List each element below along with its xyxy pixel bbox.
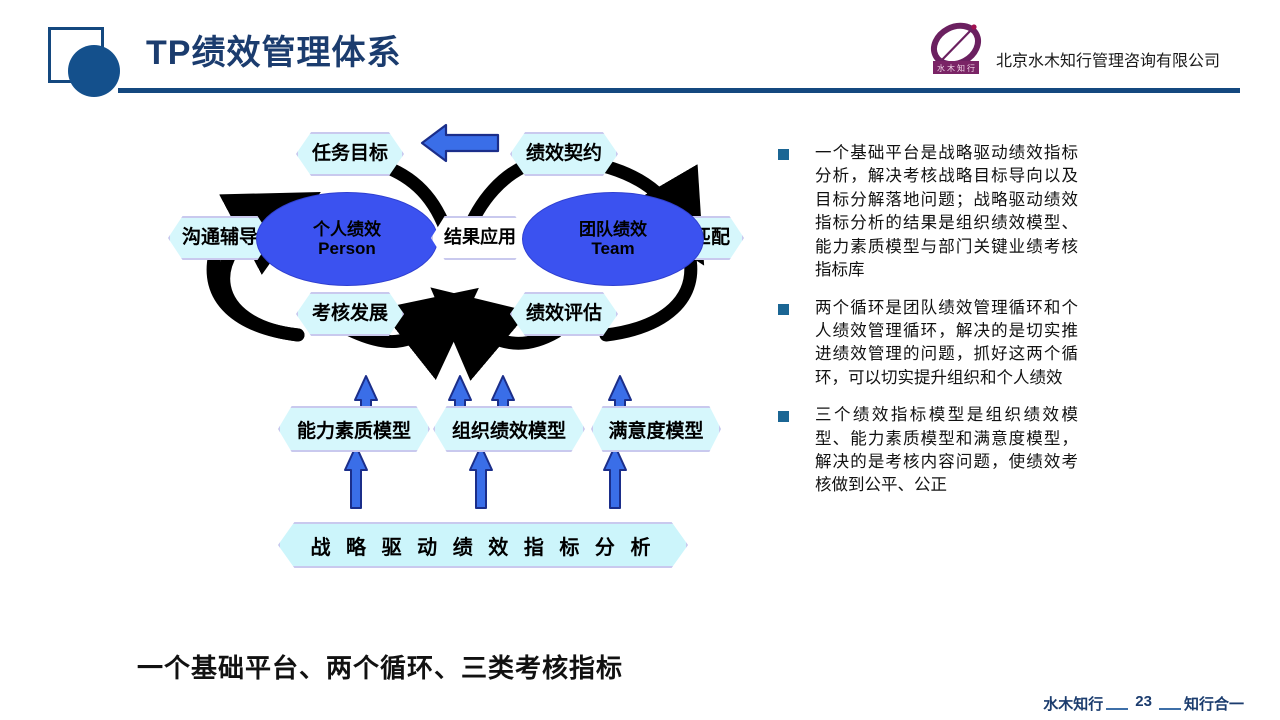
performance-cycle-diagram: 任务目标 沟通辅导 考核发展 个人绩效 Person 结果应用 绩效契约 资源匹…: [150, 110, 770, 580]
node-task-goal[interactable]: 任务目标: [296, 132, 404, 176]
footer-dash-left: [1106, 708, 1128, 710]
slide-footer: 水木知行 23 知行合一: [1043, 693, 1244, 714]
ellipse-person-en: Person: [318, 239, 376, 258]
slide-caption: 一个基础平台、两个循环、三类考核指标: [0, 648, 760, 685]
footer-dash-right: [1159, 708, 1181, 710]
footer-left-text: 水木知行: [1043, 693, 1103, 714]
company-logo-icon: 水 木 知 行: [921, 20, 991, 78]
diagram-arrows: [150, 110, 770, 580]
blue-left-arrow: [422, 125, 498, 161]
bullet-square-icon: [778, 149, 789, 160]
bullet-list: 一个基础平台是战略驱动绩效指标分析，解决考核战略目标导向以及目标分解落地问题；战…: [778, 142, 1078, 512]
bullet-item: 两个循环是团队绩效管理循环和个人绩效管理循环，解决的是切实推进绩效管理的问题，抓…: [778, 297, 1078, 391]
bullet-text: 三个绩效指标模型是组织绩效模型、能力素质模型和满意度模型，解决的是考核内容问题，…: [815, 404, 1078, 498]
ellipse-team-performance[interactable]: 团队绩效 Team: [522, 192, 704, 286]
bullet-item: 一个基础平台是战略驱动绩效指标分析，解决考核战略目标导向以及目标分解落地问题；战…: [778, 142, 1078, 283]
svg-text:水 木 知 行: 水 木 知 行: [937, 63, 975, 73]
bullet-text: 一个基础平台是战略驱动绩效指标分析，解决考核战略目标导向以及目标分解落地问题；战…: [815, 142, 1078, 283]
foundation-bar[interactable]: 战 略 驱 动 绩 效 指 标 分 析: [278, 522, 688, 568]
node-assessment-development[interactable]: 考核发展: [296, 292, 404, 336]
bullet-item: 三个绩效指标模型是组织绩效模型、能力素质模型和满意度模型，解决的是考核内容问题，…: [778, 404, 1078, 498]
model-box-org-performance[interactable]: 组织绩效模型: [433, 406, 585, 452]
page-number: 23: [1135, 693, 1152, 710]
header-divider: [118, 88, 1240, 93]
ellipse-person-performance[interactable]: 个人绩效 Person: [256, 192, 438, 286]
ellipse-team-en: Team: [591, 239, 634, 258]
model-box-satisfaction[interactable]: 满意度模型: [591, 406, 721, 452]
bullet-square-icon: [778, 411, 789, 422]
ellipse-team-cn: 团队绩效: [579, 220, 647, 239]
slide: TP绩效管理体系 水 木 知 行 北京水木知行管理咨询有限公司: [0, 0, 1280, 720]
ellipse-person-cn: 个人绩效: [313, 220, 381, 239]
footer-right-text: 知行合一: [1184, 693, 1244, 714]
node-result-application[interactable]: 结果应用: [431, 216, 529, 260]
blue-up-arrows-foundation: [345, 446, 626, 508]
model-box-competency[interactable]: 能力素质模型: [278, 406, 430, 452]
header-circle-decoration: [68, 45, 120, 97]
bullet-square-icon: [778, 304, 789, 315]
bullet-text: 两个循环是团队绩效管理循环和个人绩效管理循环，解决的是切实推进绩效管理的问题，抓…: [815, 297, 1078, 391]
node-performance-evaluation[interactable]: 绩效评估: [510, 292, 618, 336]
company-name: 北京水木知行管理咨询有限公司: [996, 47, 1220, 71]
node-performance-contract[interactable]: 绩效契约: [510, 132, 618, 176]
page-title: TP绩效管理体系: [146, 25, 401, 74]
